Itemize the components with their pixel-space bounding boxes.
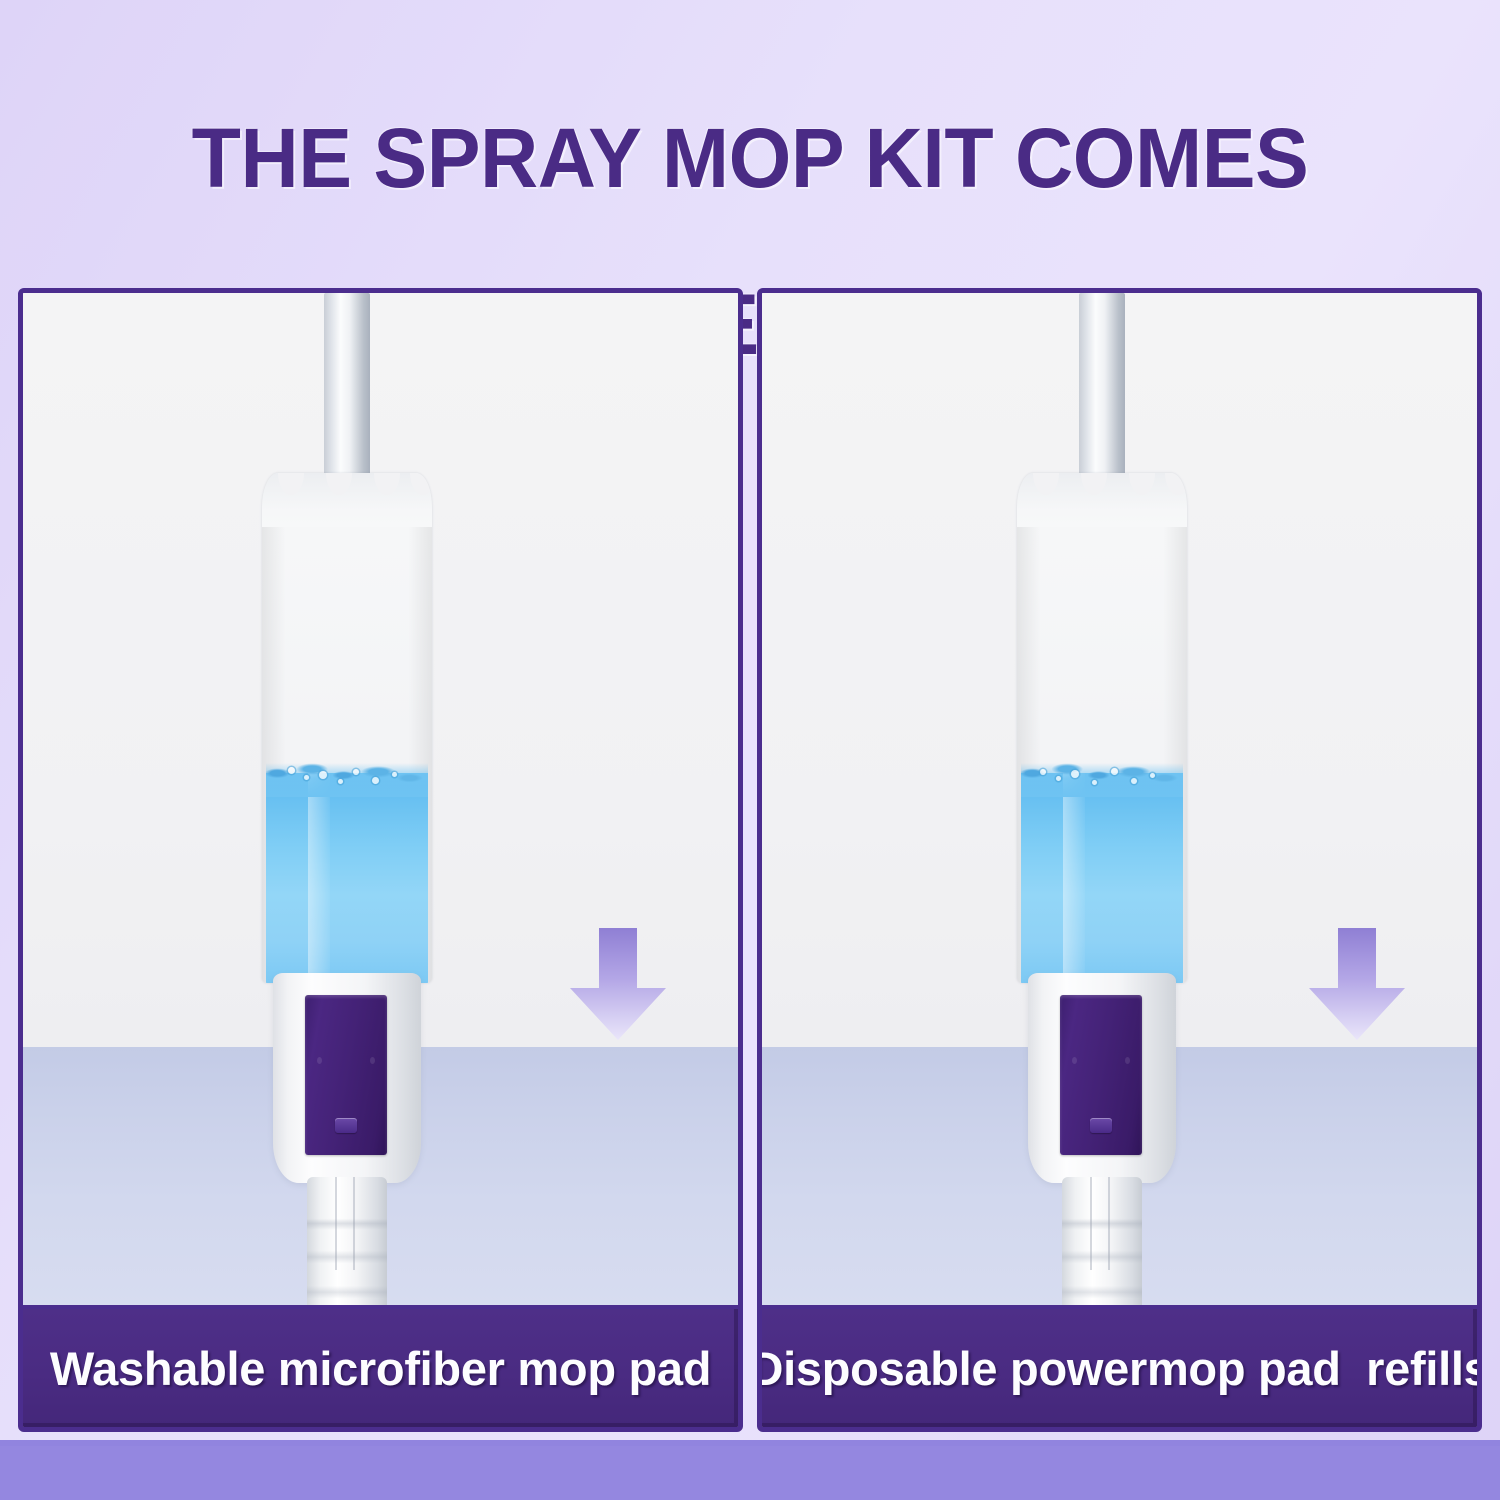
caption-text-right: Disposable powermop pad refills: [757, 1341, 1482, 1396]
telescoping-pole: [1079, 293, 1125, 481]
arrow-down-icon: [1305, 926, 1409, 1042]
comparison-panels: Washable microfiber mop pad: [18, 288, 1482, 1432]
mop-body-housing: [273, 973, 421, 1183]
telescoping-pole: [324, 293, 370, 481]
purple-label-panel: [1060, 995, 1142, 1155]
caption-bar-right: Disposable powermop pad refills: [762, 1305, 1477, 1427]
mop-neck: [1062, 1177, 1142, 1305]
liquid-surface-bubbles: [1021, 745, 1183, 797]
refillable-solution-bottle: [1017, 473, 1187, 983]
mop-neck: [307, 1177, 387, 1305]
headline-line-1: THE SPRAY MOP KIT COMES: [68, 117, 1431, 200]
blue-cleaning-solution: [266, 773, 428, 983]
product-photo-right: [762, 293, 1477, 1305]
caption-text-left: Washable microfiber mop pad: [50, 1341, 711, 1396]
spray-trigger-button[interactable]: [335, 1118, 357, 1133]
bottom-accent-strip: [0, 1440, 1500, 1500]
spray-trigger-button[interactable]: [1090, 1118, 1112, 1133]
purple-label-panel: [305, 995, 387, 1155]
panel-disposable-powermop: Disposable powermop pad refills: [757, 288, 1482, 1432]
panel-washable-microfiber: Washable microfiber mop pad: [18, 288, 743, 1432]
mop-body-housing: [1028, 973, 1176, 1183]
refillable-solution-bottle: [262, 473, 432, 983]
arrow-down-icon: [566, 926, 670, 1042]
product-infographic: THE SPRAY MOP KIT COMES WITH TWO TYPES O…: [0, 0, 1500, 1500]
caption-bar-left: Washable microfiber mop pad: [23, 1305, 738, 1427]
liquid-surface-bubbles: [266, 745, 428, 797]
product-photo-left: [23, 293, 738, 1305]
blue-cleaning-solution: [1021, 773, 1183, 983]
